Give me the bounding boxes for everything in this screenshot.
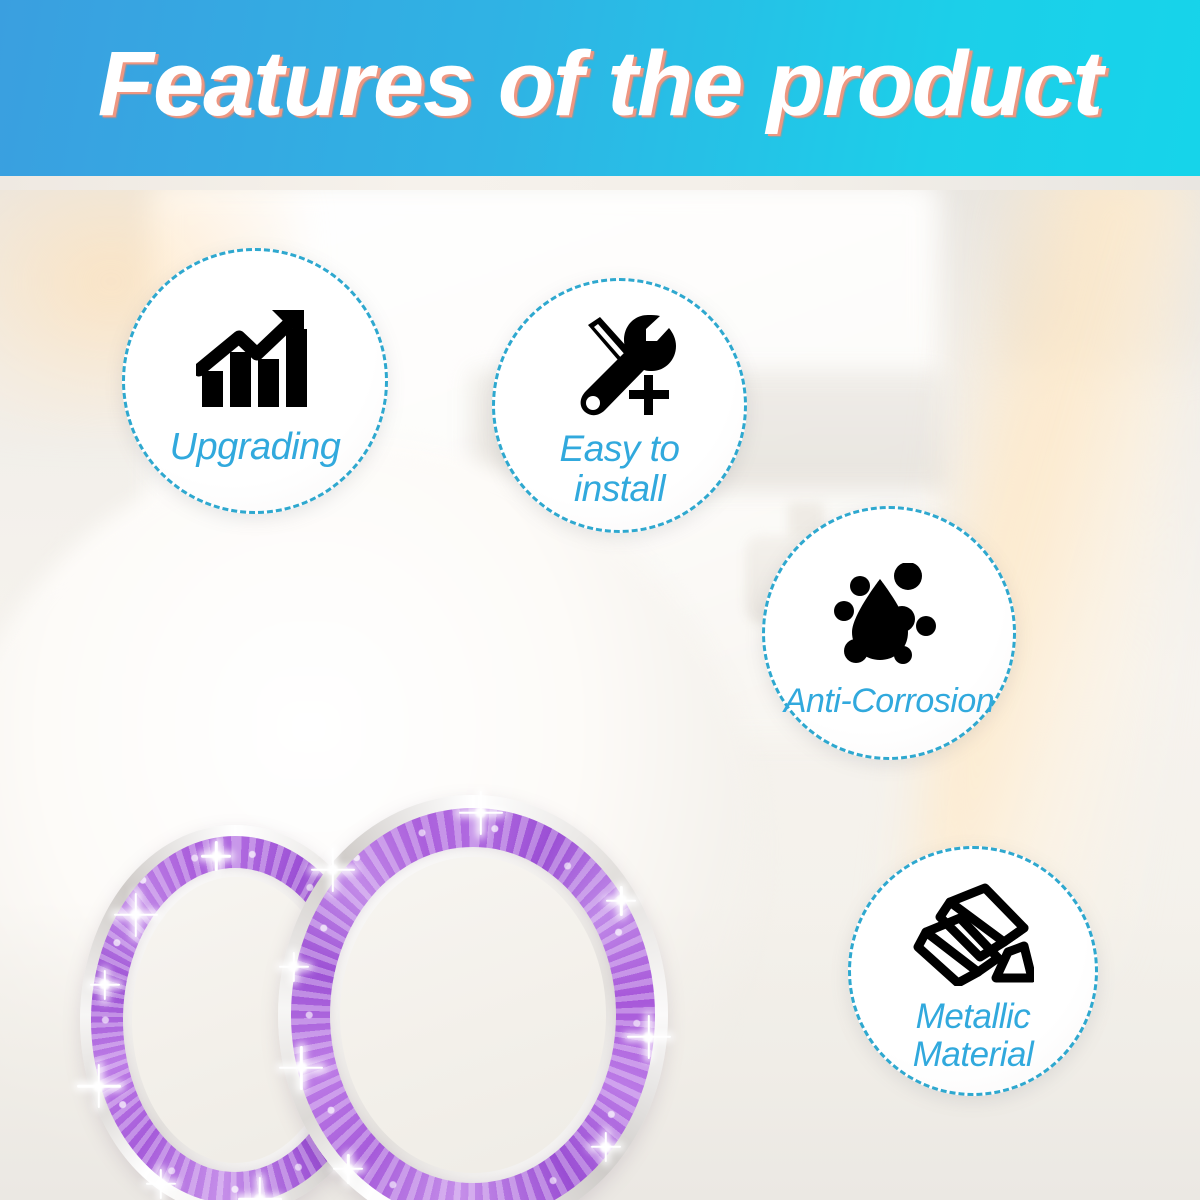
metal-ingots-icon [912,880,1034,986]
product-rings-group [60,775,760,1200]
feature-badge-anti-corrosion[interactable]: Anti-Corrosion [762,506,1016,760]
feature-badge-label: Anti-Corrosion [784,683,994,720]
growth-chart-icon [196,307,314,411]
feature-badge-label: Easy to install [560,429,680,509]
header-banner: Features of the product [0,0,1200,176]
feature-badge-label: Metallic Material [913,998,1033,1074]
wrench-screwdriver-icon [564,313,676,417]
feature-badge-label: Upgrading [170,427,341,468]
page-title: Features of the product [0,0,1200,172]
product-feature-poster: Features of the product [0,0,1200,1200]
banner-underline-divider [0,176,1200,190]
ring-center-hole [340,857,606,1173]
feature-badge-easy-install[interactable]: Easy to install [492,278,747,533]
water-droplet-icon [830,563,948,667]
crystal-ring-front [278,795,668,1200]
feature-badge-upgrading[interactable]: Upgrading [122,248,388,514]
feature-badge-metallic[interactable]: Metallic Material [848,846,1098,1096]
